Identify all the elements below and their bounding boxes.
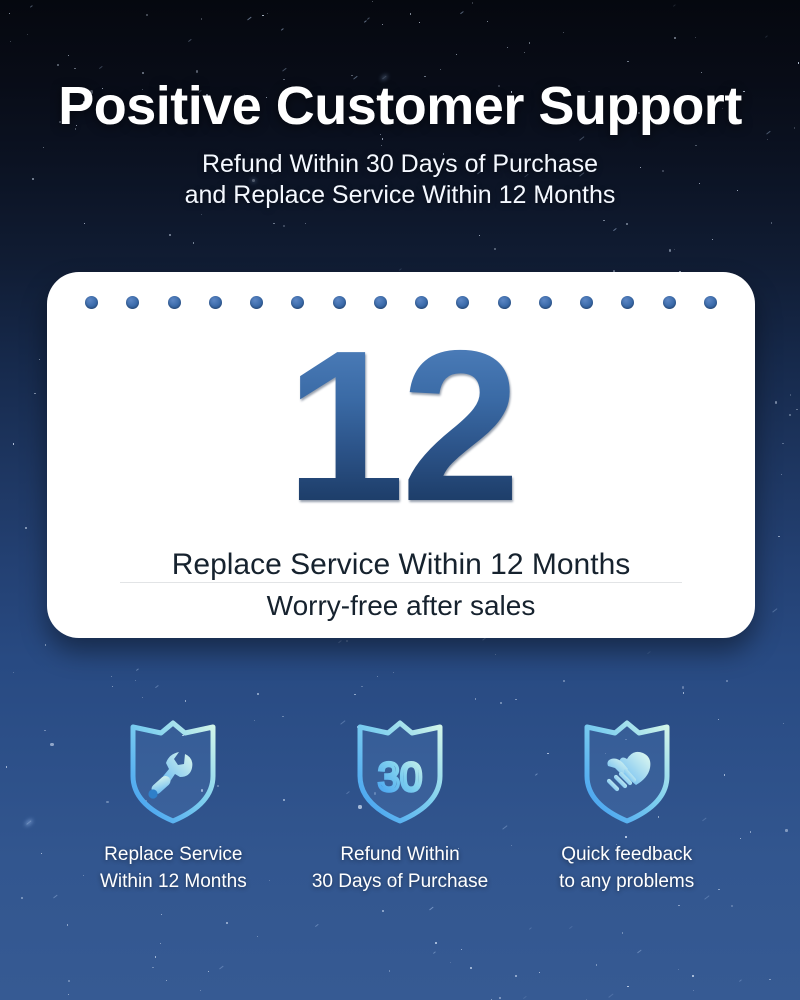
card-dot	[580, 296, 593, 309]
card-secondary-text: Worry-free after sales	[47, 590, 755, 622]
card-dot	[663, 296, 676, 309]
shield-30-days-icon: 30	[352, 718, 448, 826]
feature-row: Replace Service Within 12 Months 30 Refu…	[60, 718, 740, 896]
card-dot	[250, 296, 263, 309]
big-number: 12	[47, 318, 755, 533]
feature-caption: Quick feedback to any problems	[513, 842, 740, 896]
feature-item: 30 Refund Within 30 Days of Purchase	[287, 718, 514, 896]
card-dot	[126, 296, 139, 309]
card-divider	[120, 582, 682, 583]
shield-wrench-icon	[125, 718, 221, 826]
card-dot	[621, 296, 634, 309]
card-dot	[209, 296, 222, 309]
card-dot	[168, 296, 181, 309]
feature-caption: Replace Service Within 12 Months	[60, 842, 287, 896]
page-title: Positive Customer Support	[0, 78, 800, 135]
feature-item: Replace Service Within 12 Months	[60, 718, 287, 896]
page-subtitle: Refund Within 30 Days of Purchase and Re…	[0, 149, 800, 212]
shield-badge-text: 30	[378, 756, 423, 800]
card-dot	[85, 296, 98, 309]
promo-banner: Positive Customer Support Refund Within …	[0, 0, 800, 1000]
warranty-card: 12 Replace Service Within 12 Months Worr…	[47, 272, 755, 638]
feature-item: Quick feedback to any problems	[513, 718, 740, 896]
card-dot	[704, 296, 717, 309]
card-primary-text: Replace Service Within 12 Months	[47, 548, 755, 582]
feature-caption: Refund Within 30 Days of Purchase	[287, 842, 514, 896]
header: Positive Customer Support Refund Within …	[0, 78, 800, 212]
shield-handshake-icon	[579, 718, 675, 826]
card-dot	[539, 296, 552, 309]
